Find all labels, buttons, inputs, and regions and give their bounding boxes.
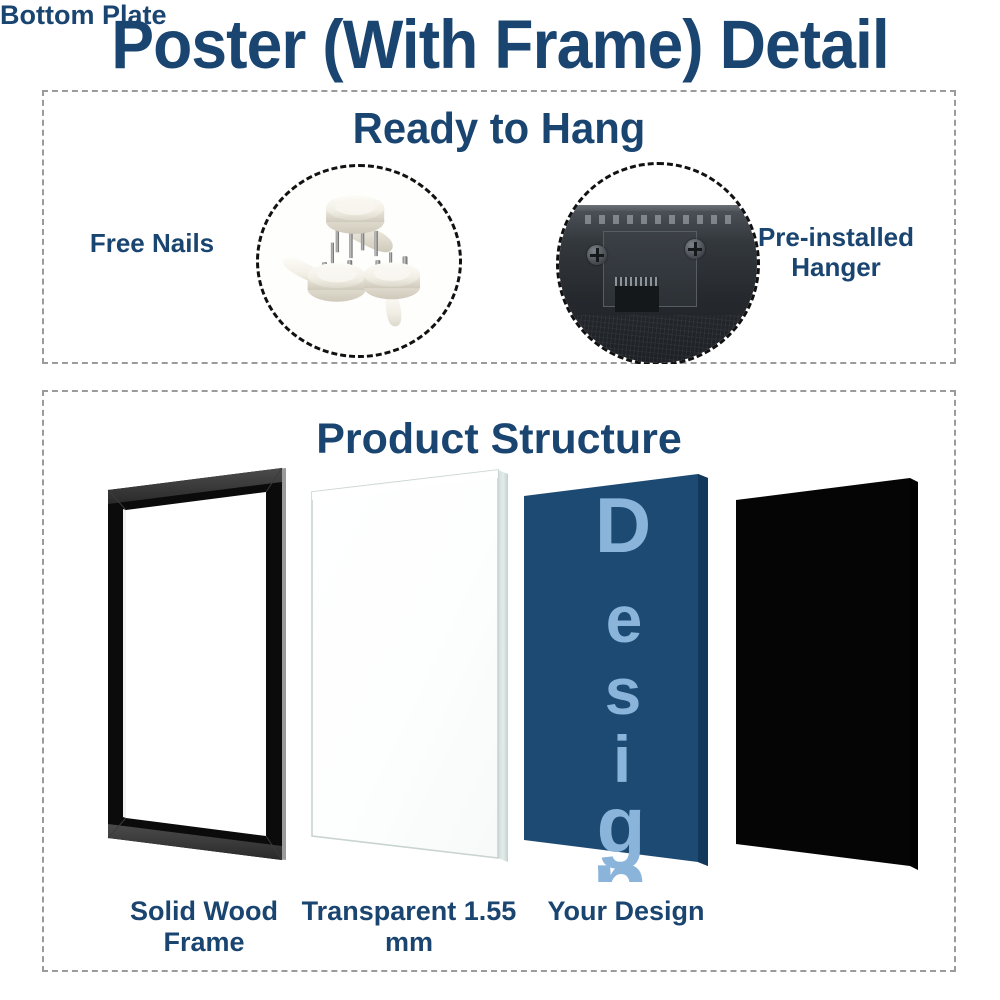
- caption-line2: Frame: [163, 927, 244, 957]
- free-nails-label: Free Nails: [52, 228, 252, 258]
- caption-line1: Bottom: [0, 0, 94, 30]
- hanger-label-line2: Hanger: [791, 252, 881, 282]
- picture-hook-nails-icon: [256, 164, 462, 358]
- design-letter: e: [606, 582, 643, 656]
- caption-line2: Plate: [102, 0, 167, 30]
- your-design-panel: Design: [524, 474, 708, 882]
- frame-back-texture: [556, 315, 760, 364]
- product-structure-diagram: Design: [90, 452, 960, 882]
- screw-icon: [685, 239, 705, 259]
- pre-installed-hanger-label: Pre-installed Hanger: [727, 222, 945, 282]
- ready-to-hang-title: Ready to Hang: [67, 104, 932, 154]
- transparent-sheet-panel: [312, 470, 508, 862]
- sawtooth-teeth: [615, 277, 659, 286]
- page-title: Poster (With Frame) Detail: [35, 6, 965, 84]
- caption-line1: Solid Wood: [130, 896, 278, 926]
- caption-line2: Design: [614, 896, 704, 926]
- solid-wood-frame-panel: [108, 468, 286, 860]
- frame-back-scuff: [585, 215, 735, 224]
- nails-illustration: [259, 167, 459, 355]
- caption-transparent-sheet: Transparent 1.55 mm: [300, 896, 518, 958]
- caption-line1: Transparent: [302, 896, 457, 926]
- caption-line1: Your: [547, 896, 607, 926]
- screw-icon: [587, 245, 607, 265]
- hanger-label-line1: Pre-installed: [758, 222, 914, 252]
- poster-detail-infographic: Poster (With Frame) Detail Ready to Hang…: [0, 0, 1000, 1000]
- design-letter: n: [592, 832, 648, 882]
- caption-bottom-plate: Bottom Plate: [0, 0, 167, 31]
- caption-your-design: Your Design: [525, 896, 727, 927]
- caption-solid-wood-frame: Solid Wood Frame: [98, 896, 310, 958]
- design-letter: D: [595, 481, 651, 569]
- design-letter: s: [605, 654, 642, 728]
- bottom-plate-panel: [736, 478, 918, 870]
